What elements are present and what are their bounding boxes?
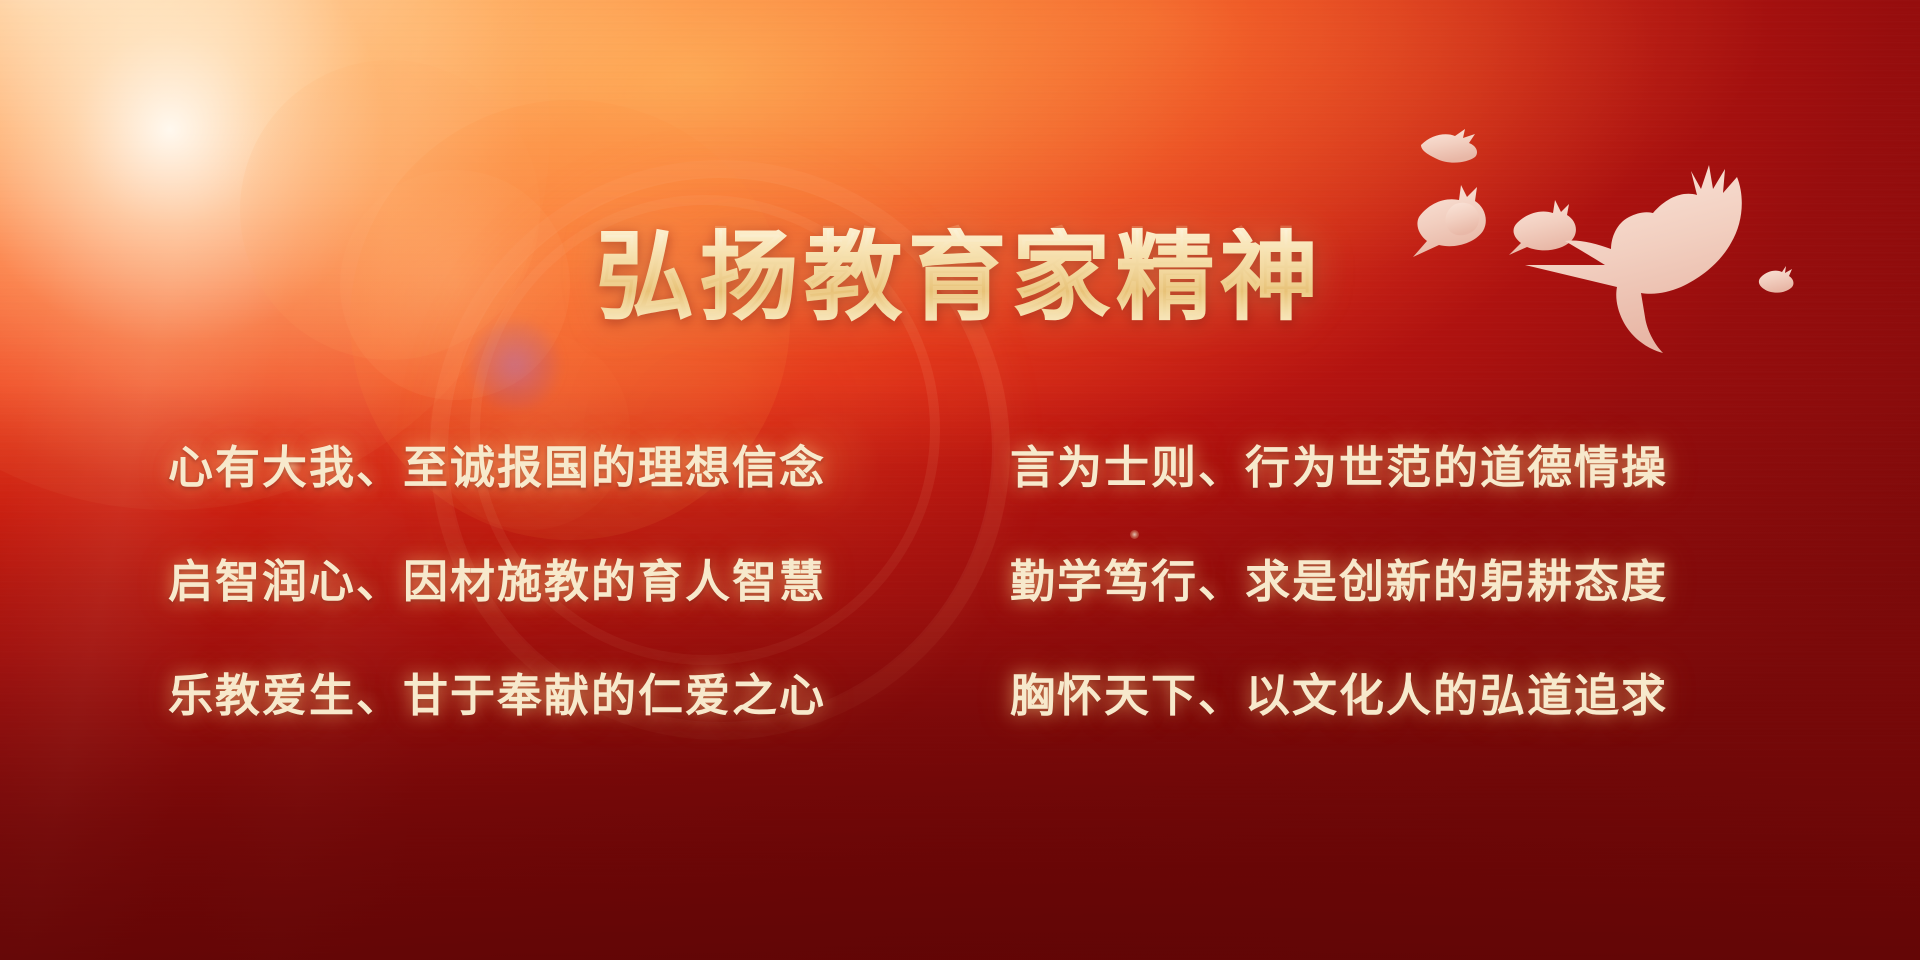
slogan-item: 心有大我、至诚报国的理想信念: [168, 435, 914, 501]
poster-title-wrapper: 弘扬教育家精神: [0, 228, 1920, 330]
slogan-item: 勤学笃行、求是创新的躬耕态度: [1010, 549, 1756, 615]
slogan-item: 胸怀天下、以文化人的弘道追求: [1010, 663, 1756, 729]
poster-root: 弘扬教育家精神 心有大我、至诚报国的理想信念 言为士则、行为世范的道德情操 启智…: [0, 0, 1920, 960]
slogan-grid: 心有大我、至诚报国的理想信念 言为士则、行为世范的道德情操 启智润心、因材施教的…: [168, 435, 1756, 729]
page-title: 弘扬教育家精神: [596, 228, 1324, 330]
slogan-item: 言为士则、行为世范的道德情操: [1010, 435, 1756, 501]
slogan-item: 启智润心、因材施教的育人智慧: [168, 549, 914, 615]
slogan-item: 乐教爱生、甘于奉献的仁爱之心: [168, 663, 914, 729]
